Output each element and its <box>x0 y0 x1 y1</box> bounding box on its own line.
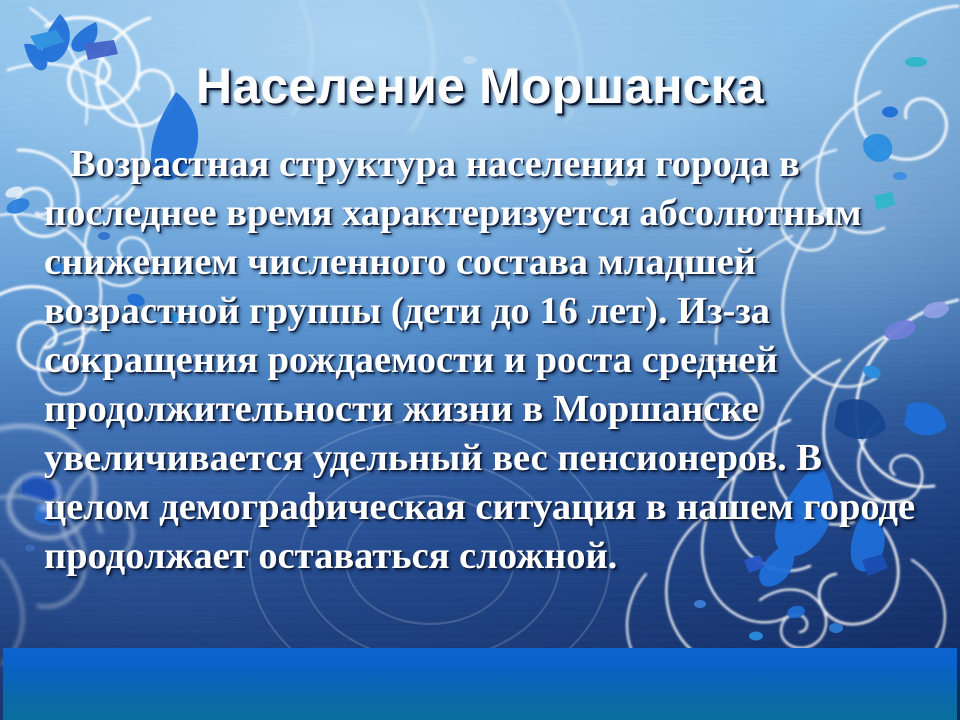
bottom-accent-band <box>3 648 957 720</box>
presentation-slide: Население Моршанска Возрастная структура… <box>0 0 960 720</box>
slide-body-text: Возрастная структура населения города в … <box>44 140 930 581</box>
slide-title: Население Моршанска <box>0 60 960 113</box>
